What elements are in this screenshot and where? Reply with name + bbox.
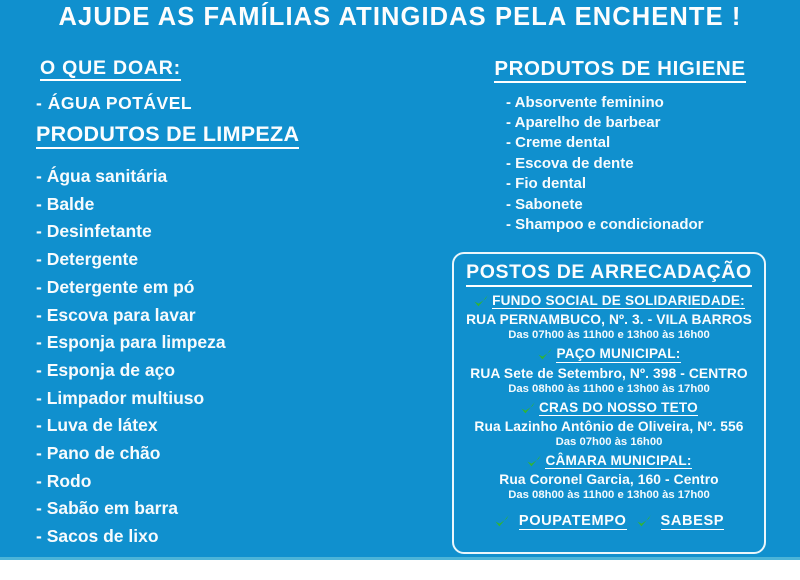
list-item: - Pano de chão xyxy=(36,440,436,468)
collection-point-hours: Das 08h00 às 11h00 e 13h00 às 17h00 xyxy=(454,383,764,395)
list-item: - Creme dental xyxy=(506,133,790,153)
list-item: - Sabão em barra xyxy=(36,495,436,523)
collection-point-name-row: PAÇO MUNICIPAL: xyxy=(454,347,764,362)
collection-points-extra-row: POUPATEMPO SABESP xyxy=(454,513,764,530)
list-item: - Escova de dente xyxy=(506,154,790,174)
check-icon xyxy=(494,514,510,529)
collection-point-name: SABESP xyxy=(661,513,725,530)
collection-point-name: FUNDO SOCIAL DE SOLIDARIEDADE: xyxy=(492,294,745,309)
collection-point-name: POUPATEMPO xyxy=(519,513,627,530)
collection-point-name: CRAS DO NOSSO TETO xyxy=(539,401,698,416)
hygiene-products-column: PRODUTOS DE HIGIENE - Absorvente feminin… xyxy=(450,58,790,235)
cleaning-products-list: - Água sanitária - Balde - Desinfetante … xyxy=(36,163,436,580)
list-item: - Sacos de lixo xyxy=(36,523,436,551)
collection-point-address: RUA PERNAMBUCO, Nº. 3. - VILA BARROS xyxy=(454,312,764,327)
list-item: - Luva de látex xyxy=(36,412,436,440)
collection-point-name: PAÇO MUNICIPAL: xyxy=(556,347,680,362)
list-item: - Detergente em pó xyxy=(36,274,436,302)
list-item: - Aparelho de barbear xyxy=(506,113,790,133)
cleaning-products-heading: PRODUTOS DE LIMPEZA xyxy=(36,123,299,149)
list-item: - Absorvente feminino xyxy=(506,93,790,113)
check-icon xyxy=(520,401,536,416)
list-item: - Esponja de aço xyxy=(36,357,436,385)
collection-point-address: RUA Sete de Setembro, Nº. 398 - CENTRO xyxy=(454,366,764,381)
donation-items-column: O QUE DOAR: - ÁGUA POTÁVEL PRODUTOS DE L… xyxy=(36,58,436,580)
collection-points-box: POSTOS DE ARRECADAÇÃO FUNDO SOCIAL DE SO… xyxy=(452,252,766,554)
list-item: - Fio dental xyxy=(506,174,790,194)
list-item: - Limpador multiuso xyxy=(36,385,436,413)
list-item: - Desinfetante xyxy=(36,218,436,246)
collection-point-hours: Das 08h00 às 11h00 e 13h00 às 17h00 xyxy=(454,489,764,501)
poster-canvas: AJUDE AS FAMÍLIAS ATINGIDAS PELA ENCHENT… xyxy=(0,0,800,580)
collection-point-address: Rua Coronel Garcia, 160 - Centro xyxy=(454,472,764,487)
list-item: - Esponja para limpeza xyxy=(36,329,436,357)
collection-point-entry: FUNDO SOCIAL DE SOLIDARIEDADE: RUA PERNA… xyxy=(454,294,764,341)
list-item: - Detergente xyxy=(36,246,436,274)
collection-point-hours: Das 07h00 às 11h00 e 13h00 às 16h00 xyxy=(454,329,764,341)
hygiene-products-list: - Absorvente feminino - Aparelho de barb… xyxy=(450,93,790,236)
collection-point-name: CÂMARA MUNICIPAL: xyxy=(545,454,691,469)
collection-points-heading: POSTOS DE ARRECADAÇÃO xyxy=(466,261,752,287)
list-item: - Água sanitária xyxy=(36,163,436,191)
page-title: AJUDE AS FAMÍLIAS ATINGIDAS PELA ENCHENT… xyxy=(0,3,800,32)
list-item: - Balde xyxy=(36,191,436,219)
collection-point-name-row: CÂMARA MUNICIPAL: xyxy=(454,454,764,469)
list-item: - Rodo xyxy=(36,468,436,496)
collection-point-name-row: FUNDO SOCIAL DE SOLIDARIEDADE: xyxy=(454,294,764,309)
hygiene-products-heading: PRODUTOS DE HIGIENE xyxy=(494,58,745,83)
collection-point-entry: CRAS DO NOSSO TETO Rua Lazinho Antônio d… xyxy=(454,401,764,448)
collection-point-entry: CÂMARA MUNICIPAL: Rua Coronel Garcia, 16… xyxy=(454,454,764,501)
collection-point-name-row: CRAS DO NOSSO TETO xyxy=(454,401,764,416)
check-icon xyxy=(473,294,489,309)
collection-point-address: Rua Lazinho Antônio de Oliveira, Nº. 556 xyxy=(454,419,764,434)
check-icon xyxy=(526,454,542,469)
collection-point-entry: PAÇO MUNICIPAL: RUA Sete de Setembro, Nº… xyxy=(454,347,764,394)
collection-point-hours: Das 07h00 às 16h00 xyxy=(454,436,764,448)
list-item: - Escova para lavar xyxy=(36,302,436,330)
list-item: - Shampoo e condicionador xyxy=(506,215,790,235)
footer-logo-strip: DEFESA CIVIL xyxy=(0,560,800,580)
list-item: - Sabonete xyxy=(506,195,790,215)
drinking-water-item: - ÁGUA POTÁVEL xyxy=(36,93,436,114)
check-icon xyxy=(636,514,652,529)
check-icon xyxy=(537,347,553,362)
what-to-donate-heading: O QUE DOAR: xyxy=(40,58,181,81)
